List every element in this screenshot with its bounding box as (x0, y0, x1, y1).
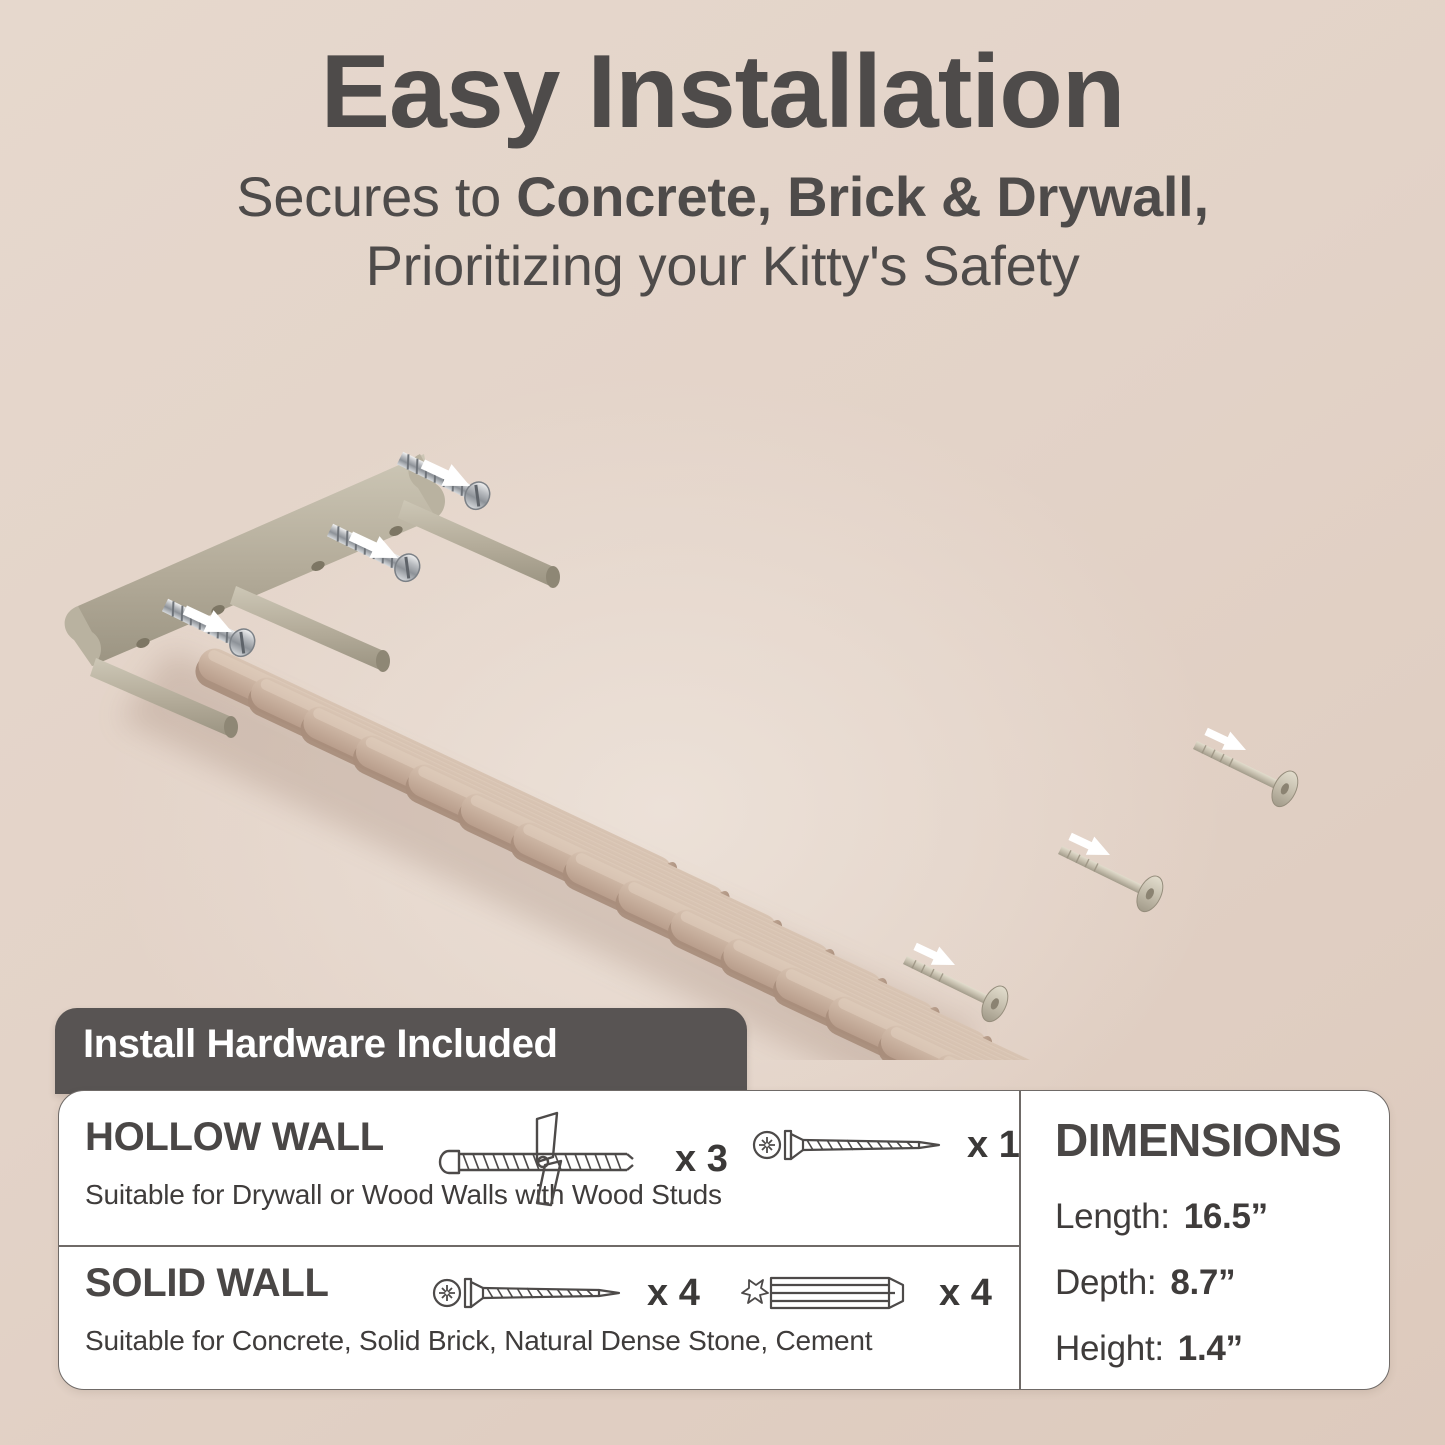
flat-head-screw-quantity: x 4 (647, 1272, 700, 1315)
dimension-label-depth: Depth: (1055, 1263, 1156, 1302)
hollow-wall-title: HOLLOW WALL (85, 1115, 384, 1160)
dimensions-title: DIMENSIONS (1055, 1113, 1341, 1167)
assembly-arrows-pins (911, 722, 1250, 974)
hardware-item-wall-anchor: x 4 (735, 1265, 992, 1321)
dowel-pins (897, 728, 1303, 1026)
wall-anchor-quantity: x 4 (939, 1272, 992, 1315)
hardware-dimensions-card: HOLLOW WALL Suitable for Drywall or Wood… (58, 1090, 1390, 1390)
wood-screw-icon (751, 1117, 957, 1173)
dimension-row-height: Height:1.4” (1055, 1329, 1243, 1369)
page-title: Easy Installation (0, 40, 1445, 144)
wall-anchor-plug-icon (735, 1265, 929, 1321)
hardware-row-hollow-wall: HOLLOW WALL Suitable for Drywall or Wood… (59, 1091, 1019, 1245)
subtitle-line-1: Secures to Concrete, Brick & Drywall, (0, 166, 1445, 229)
subtitle-line-1-prefix: Secures to (236, 165, 516, 228)
dimension-value-height: 1.4” (1178, 1329, 1243, 1368)
flat-head-screw-icon (431, 1265, 637, 1321)
solid-wall-title: SOLID WALL (85, 1261, 329, 1306)
dimensions-section: DIMENSIONS Length:16.5” Depth:8.7” Heigh… (1021, 1091, 1390, 1390)
dimension-value-length: 16.5” (1184, 1197, 1268, 1236)
hardware-row-solid-wall: SOLID WALL Suitable for Concrete, Solid … (59, 1247, 1019, 1390)
toggle-bolt-quantity: x 3 (675, 1138, 728, 1181)
product-svg (0, 400, 1445, 1060)
dimension-label-height: Height: (1055, 1329, 1164, 1368)
hardware-item-toggle-bolt: x 3 (437, 1107, 728, 1211)
wood-screw-quantity: x 1 (967, 1124, 1020, 1167)
dimension-value-depth: 8.7” (1170, 1263, 1235, 1302)
solid-wall-note: Suitable for Concrete, Solid Brick, Natu… (85, 1325, 872, 1357)
hardware-item-flat-head-screw: x 4 (431, 1265, 700, 1321)
hardware-item-wood-screw: x 1 (751, 1117, 1020, 1173)
subtitle-line-1-emphasis: Concrete, Brick & Drywall, (516, 165, 1208, 228)
dimension-label-length: Length: (1055, 1197, 1170, 1236)
dimension-row-length: Length:16.5” (1055, 1197, 1268, 1237)
install-hardware-tab: Install Hardware Included (55, 1008, 747, 1094)
install-hardware-tab-label: Install Hardware Included (83, 1022, 558, 1067)
infographic-canvas: Easy Installation Secures to Concrete, B… (0, 0, 1445, 1445)
toggle-bolt-icon (437, 1107, 665, 1211)
dimension-row-depth: Depth:8.7” (1055, 1263, 1235, 1303)
product-illustration (0, 400, 1445, 1060)
headline-block: Easy Installation Secures to Concrete, B… (0, 40, 1445, 297)
subtitle-line-2: Prioritizing your Kitty's Safety (0, 235, 1445, 298)
shelf-slat-group (190, 643, 1445, 1060)
